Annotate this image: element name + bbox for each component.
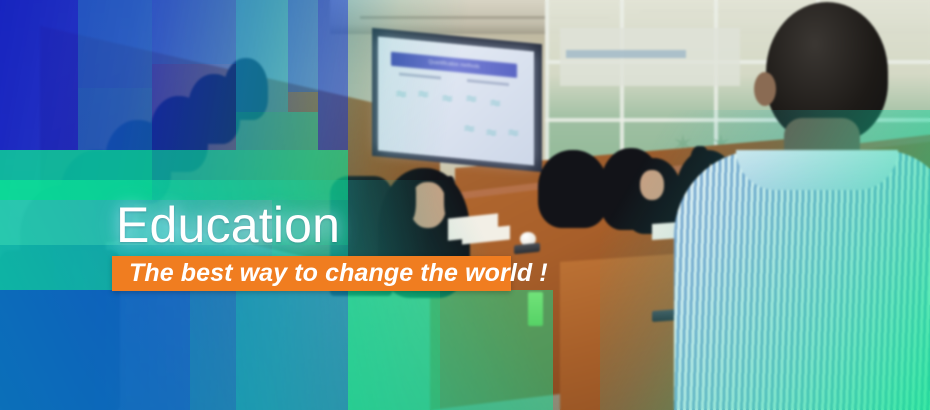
tagline-text: The best way to change the world ! xyxy=(129,256,548,291)
tagline-bar: The best way to change the world ! xyxy=(112,256,511,291)
green-gradient-bottom-right xyxy=(600,110,930,410)
education-banner: ✶ ✶ ✶ ✶ Quantification methods ≈ ≈ ≈ ≈ ≈… xyxy=(0,0,930,410)
page-title: Education xyxy=(116,198,340,252)
